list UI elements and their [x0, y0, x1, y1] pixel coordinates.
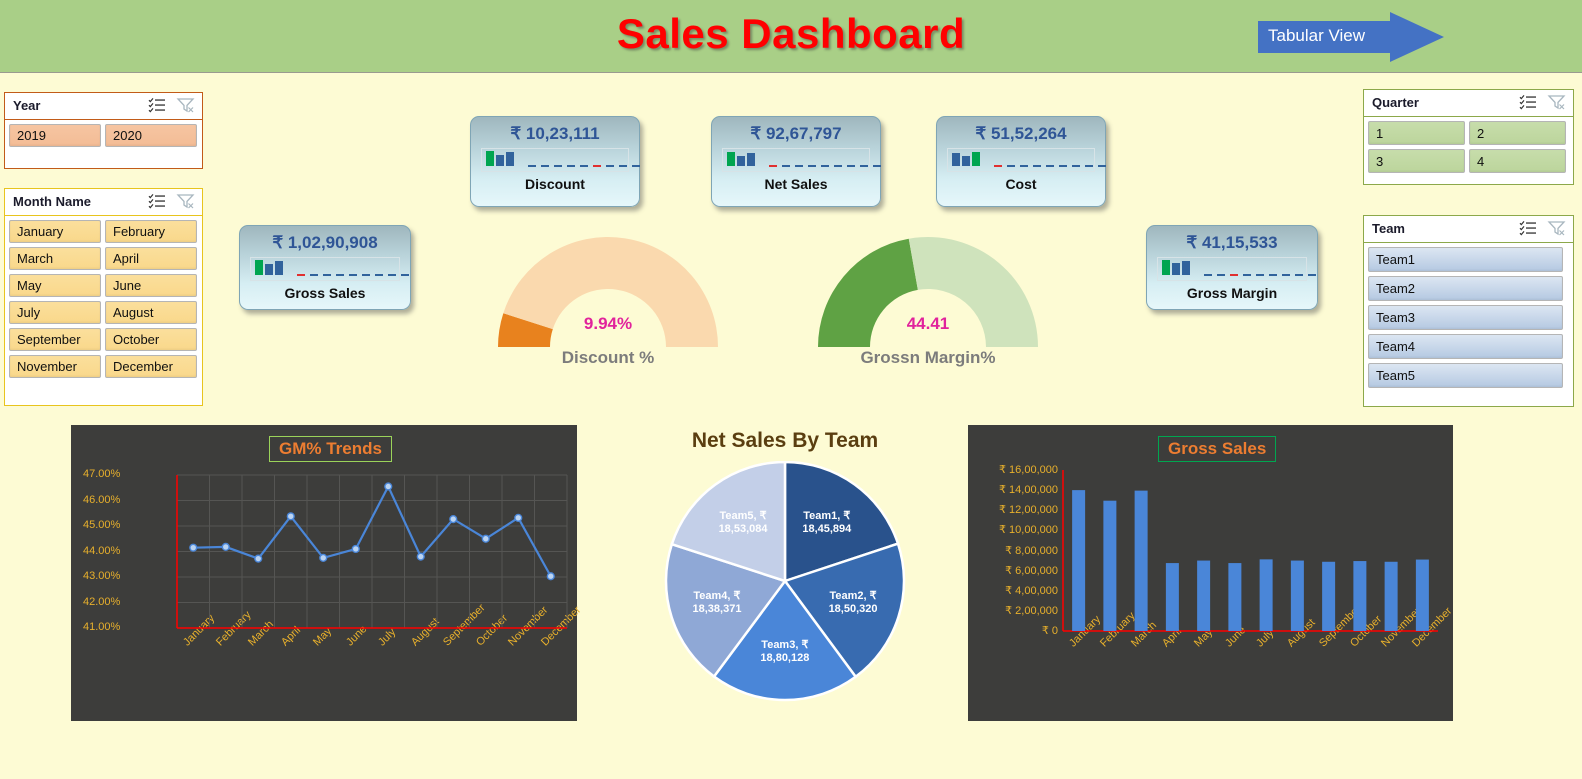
- tabular-view-label: Tabular View: [1268, 26, 1398, 46]
- slicer-team-icons: [1519, 220, 1567, 236]
- slicer-month-title: Month Name: [13, 194, 91, 209]
- slicer-item-month-april[interactable]: April: [105, 247, 197, 270]
- kpi-label-cost: Cost: [937, 176, 1105, 192]
- kpi-label-gross-margin: Gross Margin: [1147, 285, 1317, 301]
- slicer-item-team1[interactable]: Team1: [1368, 247, 1563, 272]
- arrow-right-icon: [1390, 12, 1444, 62]
- tabular-view-button[interactable]: Tabular View: [1258, 12, 1448, 62]
- slicer-month-icons: [148, 193, 196, 209]
- gauge-margin-value: 44.41: [808, 314, 1048, 334]
- multi-select-icon[interactable]: [1519, 220, 1539, 236]
- slicer-item-quarter-2[interactable]: 2: [1469, 121, 1566, 145]
- slicer-item-team4[interactable]: Team4: [1368, 334, 1563, 359]
- kpi-value-cost: ₹ 51,52,264: [937, 124, 1105, 144]
- chart-gross-sales: Gross Sales ₹ 0₹ 2,00,000₹ 4,00,000₹ 6,0…: [968, 425, 1453, 721]
- kpi-value-net-sales: ₹ 92,67,797: [712, 124, 880, 144]
- kpi-value-gross-sales: ₹ 1,02,90,908: [240, 233, 410, 253]
- slicer-item-month-june[interactable]: June: [105, 274, 197, 297]
- slicer-item-month-august[interactable]: August: [105, 301, 197, 324]
- kpi-sparkline-cost: [947, 148, 1095, 172]
- pie-slice-label: Team4, ₹18,38,371: [672, 590, 762, 616]
- slicer-item-month-july[interactable]: July: [9, 301, 101, 324]
- slicer-item-year-2020[interactable]: 2020: [105, 124, 197, 147]
- kpi-sparkline-gross-margin: [1157, 257, 1307, 281]
- kpi-label-discount: Discount: [471, 176, 639, 192]
- slicer-item-month-february[interactable]: February: [105, 220, 197, 243]
- multi-select-icon[interactable]: [1519, 94, 1539, 110]
- clear-filter-icon[interactable]: [176, 97, 196, 113]
- slicer-month[interactable]: Month Name January February March April …: [4, 188, 203, 406]
- pie-slice-label: Team2, ₹18,50,320: [808, 590, 898, 616]
- slicer-item-quarter-4[interactable]: 4: [1469, 149, 1566, 173]
- slicer-item-team2[interactable]: Team2: [1368, 276, 1563, 301]
- slicer-item-quarter-1[interactable]: 1: [1368, 121, 1465, 145]
- pie-slice-label: Team5, ₹18,53,084: [698, 510, 788, 536]
- clear-filter-icon[interactable]: [1547, 220, 1567, 236]
- slicer-month-header: Month Name: [5, 189, 202, 216]
- chart-gm-trends: GM% Trends 41.00%42.00%43.00%44.00%45.00…: [71, 425, 577, 721]
- multi-select-icon[interactable]: [148, 97, 168, 113]
- slicer-item-month-october[interactable]: October: [105, 328, 197, 351]
- slicer-item-month-september[interactable]: September: [9, 328, 101, 351]
- line-chart-plot: [71, 425, 577, 721]
- kpi-card-gross-sales: ₹ 1,02,90,908 Gross Sales: [239, 225, 411, 310]
- slicer-year-header: Year: [5, 93, 202, 120]
- clear-filter-icon[interactable]: [176, 193, 196, 209]
- slicer-quarter[interactable]: Quarter 1 2 3 4: [1363, 89, 1574, 185]
- pie-slice-label: Team1, ₹18,45,894: [782, 510, 872, 536]
- kpi-label-gross-sales: Gross Sales: [240, 285, 410, 301]
- slicer-year-title: Year: [13, 98, 40, 113]
- slicer-month-items[interactable]: January February March April May June Ju…: [5, 216, 202, 382]
- chart-net-sales-by-team: Net Sales By Team Team1, ₹18,45,894Team2…: [630, 425, 940, 721]
- slicer-team[interactable]: Team Team1 Team2 Team3 Team4 Team5: [1363, 215, 1574, 407]
- chart-title-net-sales-by-team: Net Sales By Team: [630, 429, 940, 453]
- slicer-quarter-header: Quarter: [1364, 90, 1573, 117]
- slicer-item-team3[interactable]: Team3: [1368, 305, 1563, 330]
- kpi-label-net-sales: Net Sales: [712, 176, 880, 192]
- slicer-item-month-march[interactable]: March: [9, 247, 101, 270]
- slicer-item-team5[interactable]: Team5: [1368, 363, 1563, 388]
- slicer-team-items[interactable]: Team1 Team2 Team3 Team4 Team5: [1364, 243, 1573, 392]
- gauge-gross-margin-pct: 44.41 Grossn Margin%: [808, 232, 1048, 372]
- gauge-discount-caption: Discount %: [488, 348, 728, 368]
- kpi-value-discount: ₹ 10,23,111: [471, 124, 639, 144]
- slicer-item-month-november[interactable]: November: [9, 355, 101, 378]
- slicer-quarter-title: Quarter: [1372, 95, 1419, 110]
- multi-select-icon[interactable]: [148, 193, 168, 209]
- gauge-discount-value: 9.94%: [488, 314, 728, 334]
- kpi-card-net-sales: ₹ 92,67,797 Net Sales: [711, 116, 881, 207]
- slicer-team-title: Team: [1372, 221, 1405, 236]
- kpi-sparkline-gross-sales: [250, 257, 400, 281]
- slicer-year-items[interactable]: 2019 2020: [5, 120, 202, 151]
- slicer-item-quarter-3[interactable]: 3: [1368, 149, 1465, 173]
- bar-chart-plot: [968, 425, 1453, 721]
- slicer-item-year-2019[interactable]: 2019: [9, 124, 101, 147]
- slicer-item-month-december[interactable]: December: [105, 355, 197, 378]
- dashboard-header: Sales Dashboard Tabular View: [0, 0, 1582, 73]
- slicer-year-icons: [148, 97, 196, 113]
- gauge-margin-caption: Grossn Margin%: [808, 348, 1048, 368]
- clear-filter-icon[interactable]: [1547, 94, 1567, 110]
- slicer-quarter-items[interactable]: 1 2 3 4: [1364, 117, 1573, 177]
- kpi-sparkline-discount: [481, 148, 629, 172]
- slicer-quarter-icons: [1519, 94, 1567, 110]
- pie-slice-label: Team3, ₹18,80,128: [740, 639, 830, 665]
- slicer-item-month-may[interactable]: May: [9, 274, 101, 297]
- kpi-card-discount: ₹ 10,23,111 Discount: [470, 116, 640, 207]
- gauge-discount-pct: 9.94% Discount %: [488, 232, 728, 372]
- slicer-team-header: Team: [1364, 216, 1573, 243]
- slicer-year[interactable]: Year 2019 2020: [4, 92, 203, 169]
- kpi-card-gross-margin: ₹ 41,15,533 Gross Margin: [1146, 225, 1318, 310]
- kpi-card-cost: ₹ 51,52,264 Cost: [936, 116, 1106, 207]
- kpi-value-gross-margin: ₹ 41,15,533: [1147, 233, 1317, 253]
- slicer-item-month-january[interactable]: January: [9, 220, 101, 243]
- kpi-sparkline-net-sales: [722, 148, 870, 172]
